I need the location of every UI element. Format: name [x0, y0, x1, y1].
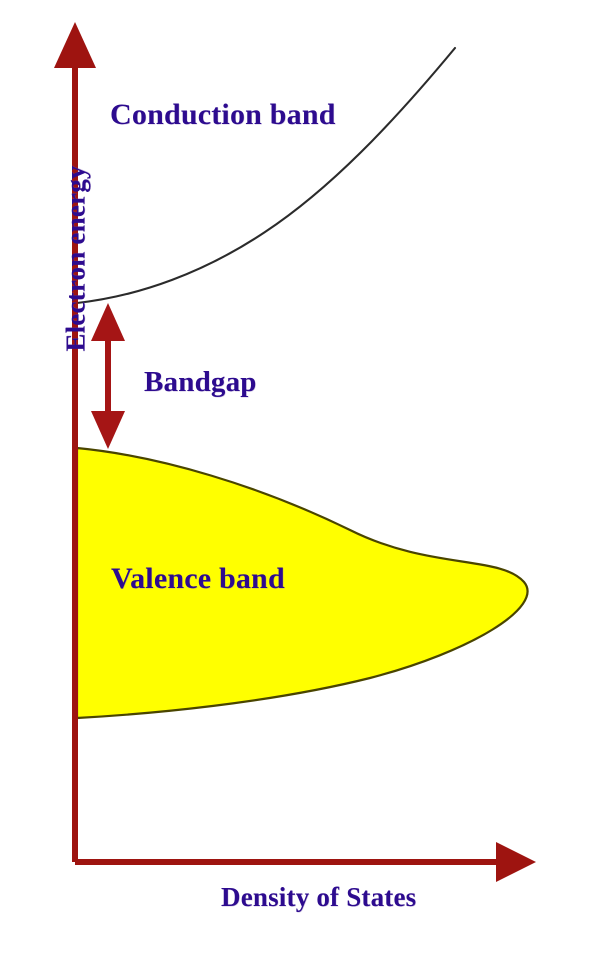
conduction-band-curve: [77, 48, 455, 303]
band-diagram-canvas: [0, 0, 600, 968]
bandgap-label: Bandgap: [144, 366, 257, 399]
band-diagram-figure: Conduction band Bandgap Valence band Den…: [0, 0, 600, 968]
y-axis-label: Electron energy: [61, 159, 92, 359]
bandgap-arrow-top-head-icon: [91, 303, 125, 341]
y-axis-arrowhead-icon: [54, 22, 96, 68]
conduction-band-label: Conduction band: [110, 98, 336, 132]
x-axis-label: Density of States: [221, 882, 416, 913]
valence-band-label: Valence band: [111, 562, 285, 596]
bandgap-arrow-bottom-head-icon: [91, 411, 125, 449]
x-axis-arrowhead-icon: [496, 842, 536, 882]
